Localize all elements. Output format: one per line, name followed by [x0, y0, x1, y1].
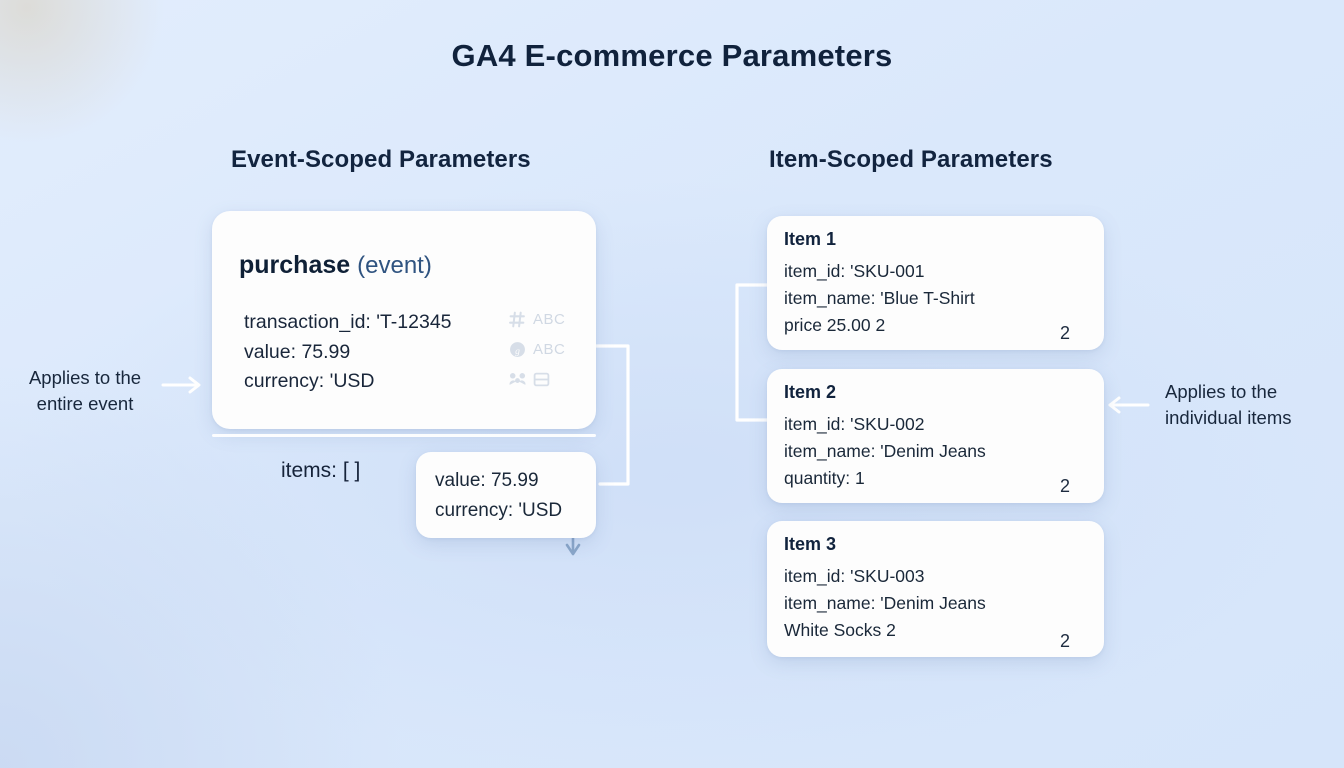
- svg-text:g: g: [515, 345, 520, 356]
- item-card-title: Item 3: [784, 534, 836, 555]
- event-param-currency: currency: 'USD: [244, 367, 452, 397]
- event-card-heading: purchase (event): [239, 251, 432, 280]
- item-card-lines: item_id: 'SKU-002 item_name: 'Denim Jean…: [784, 411, 986, 492]
- item-card-line-name: item_name: 'Blue T-Shirt: [784, 285, 975, 312]
- callout-card[interactable]: value: 75.99 currency: 'USD: [416, 452, 596, 538]
- callout-line-currency: currency: 'USD: [435, 496, 562, 526]
- callout-line-value: value: 75.99: [435, 466, 562, 496]
- item-card-line-id: item_id: 'SKU-001: [784, 258, 975, 285]
- event-param-value: value: 75.99: [244, 338, 452, 368]
- item-card-line-id: item_id: 'SKU-003: [784, 563, 986, 590]
- icon-row-hash: ABC: [509, 307, 577, 331]
- event-card-divider: [212, 434, 596, 437]
- event-kind-label: (event): [357, 252, 432, 279]
- item-card-badge: 2: [1060, 476, 1070, 497]
- right-arrow-head: [1110, 398, 1119, 412]
- annotation-right: Applies to theindividual items: [1165, 379, 1335, 431]
- item-card-title: Item 2: [784, 382, 836, 403]
- database-icon: [533, 371, 550, 388]
- event-card[interactable]: purchase (event) transaction_id: 'T-1234…: [212, 211, 596, 429]
- coin-icon: g: [509, 341, 526, 358]
- item-card-line-extra: quantity: 1: [784, 465, 986, 492]
- item-card-line-id: item_id: 'SKU-002: [784, 411, 986, 438]
- left-arrow-head: [190, 378, 199, 392]
- item-card-lines: item_id: 'SKU-001 item_name: 'Blue T-Shi…: [784, 258, 975, 339]
- item-card[interactable]: Item 2 item_id: 'SKU-002 item_name: 'Den…: [767, 369, 1104, 503]
- event-name: purchase: [239, 251, 350, 279]
- item-card-line-name: item_name: 'Denim Jeans: [784, 438, 986, 465]
- hash-icon: [509, 311, 526, 328]
- callout-down-arrow-head: [567, 545, 579, 554]
- item-card-line-extra: White Socks 2: [784, 617, 986, 644]
- column-title-item: Item-Scoped Parameters: [769, 146, 1053, 174]
- diagram-canvas: GA4 E-commerce Parameters Event-Scoped P…: [0, 0, 1344, 768]
- item-card-line-extra: price 25.00 2: [784, 312, 975, 339]
- event-parameter-list: transaction_id: 'T-12345 value: 75.99 cu…: [244, 308, 452, 397]
- icon-row-users-database: [509, 367, 577, 391]
- items-to-item-cards-connector: [737, 285, 767, 420]
- item-card[interactable]: Item 3 item_id: 'SKU-003 item_name: 'Den…: [767, 521, 1104, 657]
- column-title-event: Event-Scoped Parameters: [231, 146, 531, 174]
- callout-card-lines: value: 75.99 currency: 'USD: [435, 466, 562, 526]
- item-card-lines: item_id: 'SKU-003 item_name: 'Denim Jean…: [784, 563, 986, 644]
- item-card-badge: 2: [1060, 323, 1070, 344]
- items-array-label: items: [ ]: [281, 459, 360, 483]
- icon-row-hash-label: ABC: [533, 311, 565, 328]
- annotation-left: Applies to theentire event: [20, 365, 150, 417]
- connector-layer: [0, 0, 1344, 768]
- event-card-icon-column: ABC g ABC: [509, 307, 577, 391]
- item-card-badge: 2: [1060, 631, 1070, 652]
- page-title: GA4 E-commerce Parameters: [0, 38, 1344, 74]
- item-card-title: Item 1: [784, 229, 836, 250]
- users-icon: [509, 371, 526, 388]
- item-card[interactable]: Item 1 item_id: 'SKU-001 item_name: 'Blu…: [767, 216, 1104, 350]
- icon-row-coin: g ABC: [509, 337, 577, 361]
- icon-row-coin-label: ABC: [533, 341, 565, 358]
- event-to-callout-connector: [596, 346, 628, 484]
- event-param-transaction-id: transaction_id: 'T-12345: [244, 308, 452, 338]
- item-card-line-name: item_name: 'Denim Jeans: [784, 590, 986, 617]
